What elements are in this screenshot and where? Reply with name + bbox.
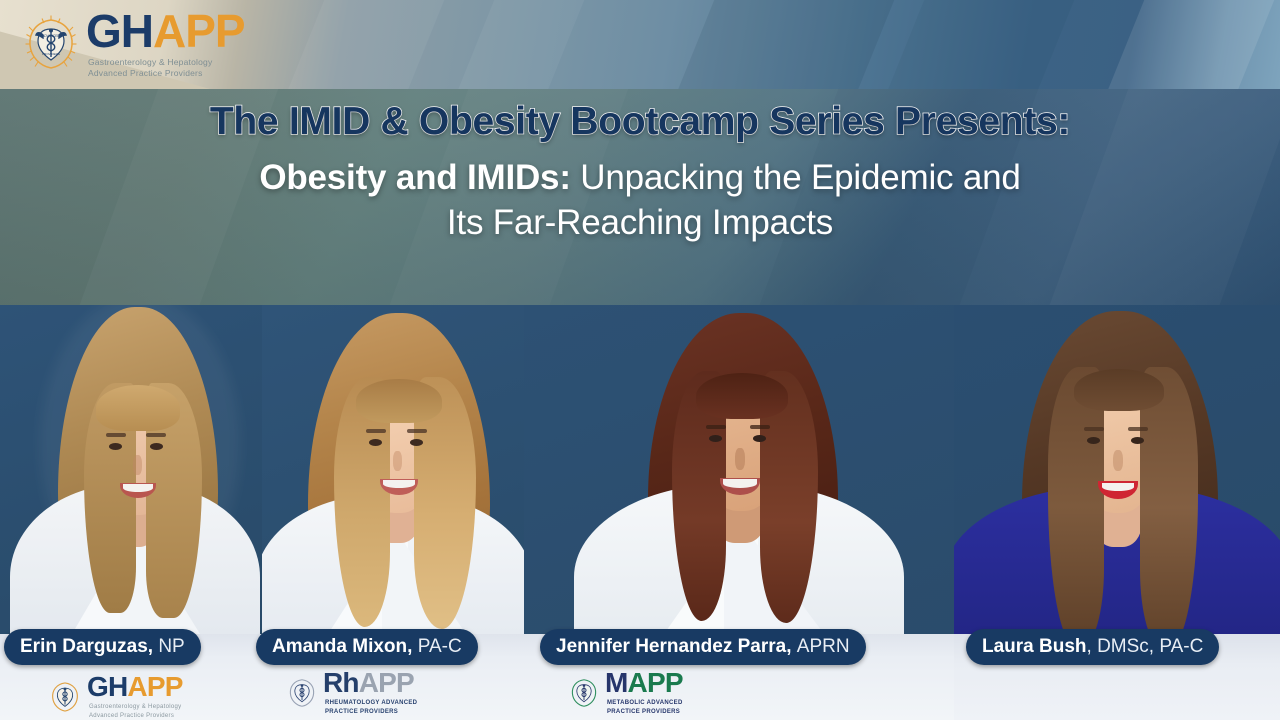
org-tagline-line1: METABOLIC ADVANCED (607, 700, 683, 706)
org-tagline-line1: Gastroenterology & Hepatology (89, 704, 181, 710)
session-title-rest: Unpacking the Epidemic and (571, 158, 1021, 197)
org-mark-secondary: APP (127, 671, 182, 702)
org-mark-secondary: APP (359, 667, 414, 698)
ghapp-tagline-line1: Gastroenterology & Hepatology (88, 57, 212, 67)
caduceus-laurel-seal-icon (568, 677, 600, 709)
org-tagline-line2: PRACTICE PROVIDERS (607, 709, 680, 715)
series-title: The IMID & Obesity Bootcamp Series Prese… (0, 101, 1280, 143)
org-tagline-line2: Advanced Practice Providers (89, 713, 174, 719)
badge-credential: NP (158, 636, 184, 658)
session-title: Obesity and IMIDs: Unpacking the Epidemi… (0, 156, 1280, 246)
portrait-figure (954, 305, 1280, 634)
portrait-figure (0, 305, 262, 634)
header-stripe-decoration (1080, 0, 1280, 89)
badge-name: Amanda Mixon, (272, 636, 412, 658)
header-stripe-decoration (650, 0, 911, 89)
badge-name: Laura Bush (982, 636, 1087, 658)
caduceus-laurel-seal-icon (286, 677, 318, 709)
org-mark-secondary: APP (628, 667, 683, 698)
ghapp-tagline-line2: Advanced Practice Providers (88, 68, 203, 78)
speaker-org-logo-rhapp: RhAPP RHEUMATOLOGY ADVANCED PRACTICE PRO… (286, 669, 417, 716)
caduceus-laurel-seal-icon: ADVANCED PROVIDERS (22, 15, 80, 73)
speaker-org-logo-ghapp: GHAPP Gastroenterology & Hepatology Adva… (48, 673, 183, 720)
header-stripe-decoration (260, 0, 461, 89)
badge-credential: , DMSc, PA-C (1087, 636, 1204, 658)
badge-name: Erin Darguzas, (20, 636, 153, 658)
portrait-figure (524, 305, 954, 634)
name-badge-erin-darguzas[interactable]: Erin Darguzas, NP (4, 629, 201, 665)
name-badge-jennifer-hernandez-parra[interactable]: Jennifer Hernandez Parra, APRN (540, 629, 866, 665)
header-stripe-decoration (430, 0, 601, 89)
title-band: The IMID & Obesity Bootcamp Series Prese… (0, 89, 1280, 305)
badge-name: Jennifer Hernandez Parra, (556, 636, 791, 658)
slide-canvas: ADVANCED PROVIDERS GHAPP Gastroenterolog… (0, 0, 1280, 720)
org-mark-primary: Rh (323, 667, 359, 698)
org-tagline-line1: RHEUMATOLOGY ADVANCED (325, 700, 417, 706)
badge-credential: APRN (797, 636, 850, 658)
ghapp-mark-secondary: APP (153, 5, 245, 57)
badge-credential: PA-C (418, 636, 462, 658)
session-title-bold: Obesity and IMIDs: (259, 158, 570, 197)
caduceus-laurel-seal-icon (48, 680, 82, 714)
header-stripe-decoration (860, 0, 1091, 89)
speaker-name-badges: Erin Darguzas, NP Amanda Mixon, PA-C Jen… (0, 629, 1280, 665)
org-mark-primary: GH (87, 671, 127, 702)
session-title-line2: Its Far-Reaching Impacts (447, 203, 833, 242)
title-block: The IMID & Obesity Bootcamp Series Prese… (0, 89, 1280, 246)
name-badge-laura-bush[interactable]: Laura Bush, DMSc, PA-C (966, 629, 1219, 665)
header-ghapp-logo: ADVANCED PROVIDERS GHAPP Gastroenterolog… (22, 8, 245, 80)
speaker-org-logo-mapp: MAPP METABOLIC ADVANCED PRACTICE PROVIDE… (568, 669, 683, 716)
svg-text:PROVIDERS: PROVIDERS (42, 52, 60, 56)
header-band: ADVANCED PROVIDERS GHAPP Gastroenterolog… (0, 0, 1280, 89)
name-badge-amanda-mixon[interactable]: Amanda Mixon, PA-C (256, 629, 478, 665)
portrait-figure (262, 305, 524, 634)
svg-text:ADVANCED: ADVANCED (42, 34, 60, 38)
org-mark-primary: M (605, 667, 628, 698)
ghapp-mark-primary: GH (86, 5, 153, 57)
org-tagline-line2: PRACTICE PROVIDERS (325, 709, 398, 715)
